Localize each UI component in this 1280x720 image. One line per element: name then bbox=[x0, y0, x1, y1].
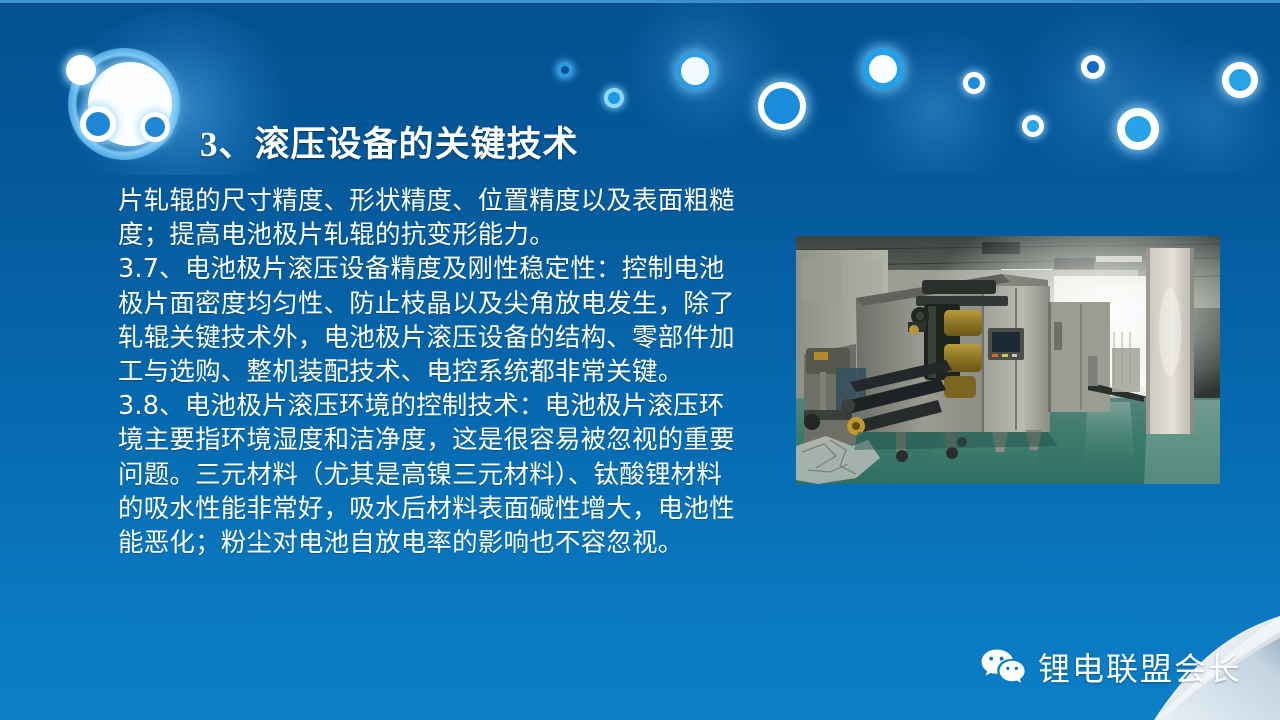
body-line: 问题。三元材料（尤其是高镍三元材料）、钛酸锂材料 bbox=[118, 458, 778, 492]
bubble-ring-left-right bbox=[140, 112, 170, 142]
decorative-bubble-band bbox=[0, 0, 1280, 175]
bubble-ring-large-white bbox=[758, 82, 806, 130]
bubble-ring-big-bottom bbox=[1117, 108, 1159, 150]
bubble-ring-small bbox=[604, 88, 624, 108]
bubble-ring-far-right bbox=[1222, 62, 1258, 98]
bubble-small-filled bbox=[66, 55, 96, 85]
slide-canvas: 3、滚压设备的关键技术 片轧辊的尺寸精度、形状精度、位置精度以及表面粗糙 度；提… bbox=[0, 0, 1280, 720]
body-line: 轧辊关键技术外，电池极片滚压设备的结构、零部件加 bbox=[118, 321, 778, 355]
body-line: 片轧辊的尺寸精度、形状精度、位置精度以及表面粗糙 bbox=[118, 184, 778, 218]
body-line: 境主要指环境湿度和洁净度，这是很容易被忽视的重要 bbox=[118, 423, 778, 457]
bubble-ring-right-white bbox=[862, 48, 904, 90]
body-text-block: 片轧辊的尺寸精度、形状精度、位置精度以及表面粗糙 度；提高电池极片轧辊的抗变形能… bbox=[118, 184, 778, 560]
body-line: 3.8、电池极片滚压环境的控制技术：电池极片滚压环 bbox=[118, 389, 778, 423]
body-line: 度；提高电池极片轧辊的抗变形能力。 bbox=[118, 218, 778, 252]
body-line: 能恶化；粉尘对电池自放电率的影响也不容忽视。 bbox=[118, 526, 778, 560]
bubble-ring-left-lower bbox=[80, 106, 116, 142]
bubble-ring-small-mid bbox=[1022, 115, 1044, 137]
watermark-label: 锂电联盟会长 bbox=[1038, 644, 1242, 690]
bubble-ring-filled-white bbox=[676, 52, 714, 90]
body-line: 3.7、电池极片滚压设备精度及刚性稳定性：控制电池 bbox=[118, 252, 778, 286]
footer-watermark: 锂电联盟会长 bbox=[980, 640, 1242, 694]
body-line: 的吸水性能非常好，吸水后材料表面碱性增大，电池性 bbox=[118, 492, 778, 526]
body-line: 工与选购、整机装配技术、电控系统都非常关键。 bbox=[118, 355, 778, 389]
bubble-ring-double bbox=[963, 72, 985, 94]
wechat-icon bbox=[980, 647, 1026, 687]
body-line: 极片面密度均匀性、防止枝晶以及尖角放电发生，除了 bbox=[118, 287, 778, 321]
bubble-ring-tiny bbox=[557, 62, 573, 78]
page-title: 3、滚压设备的关键技术 bbox=[200, 116, 579, 167]
equipment-photo bbox=[796, 236, 1220, 484]
equipment-photo-graphic bbox=[796, 236, 1220, 484]
bubble-ring-mid-blue bbox=[1081, 55, 1105, 79]
